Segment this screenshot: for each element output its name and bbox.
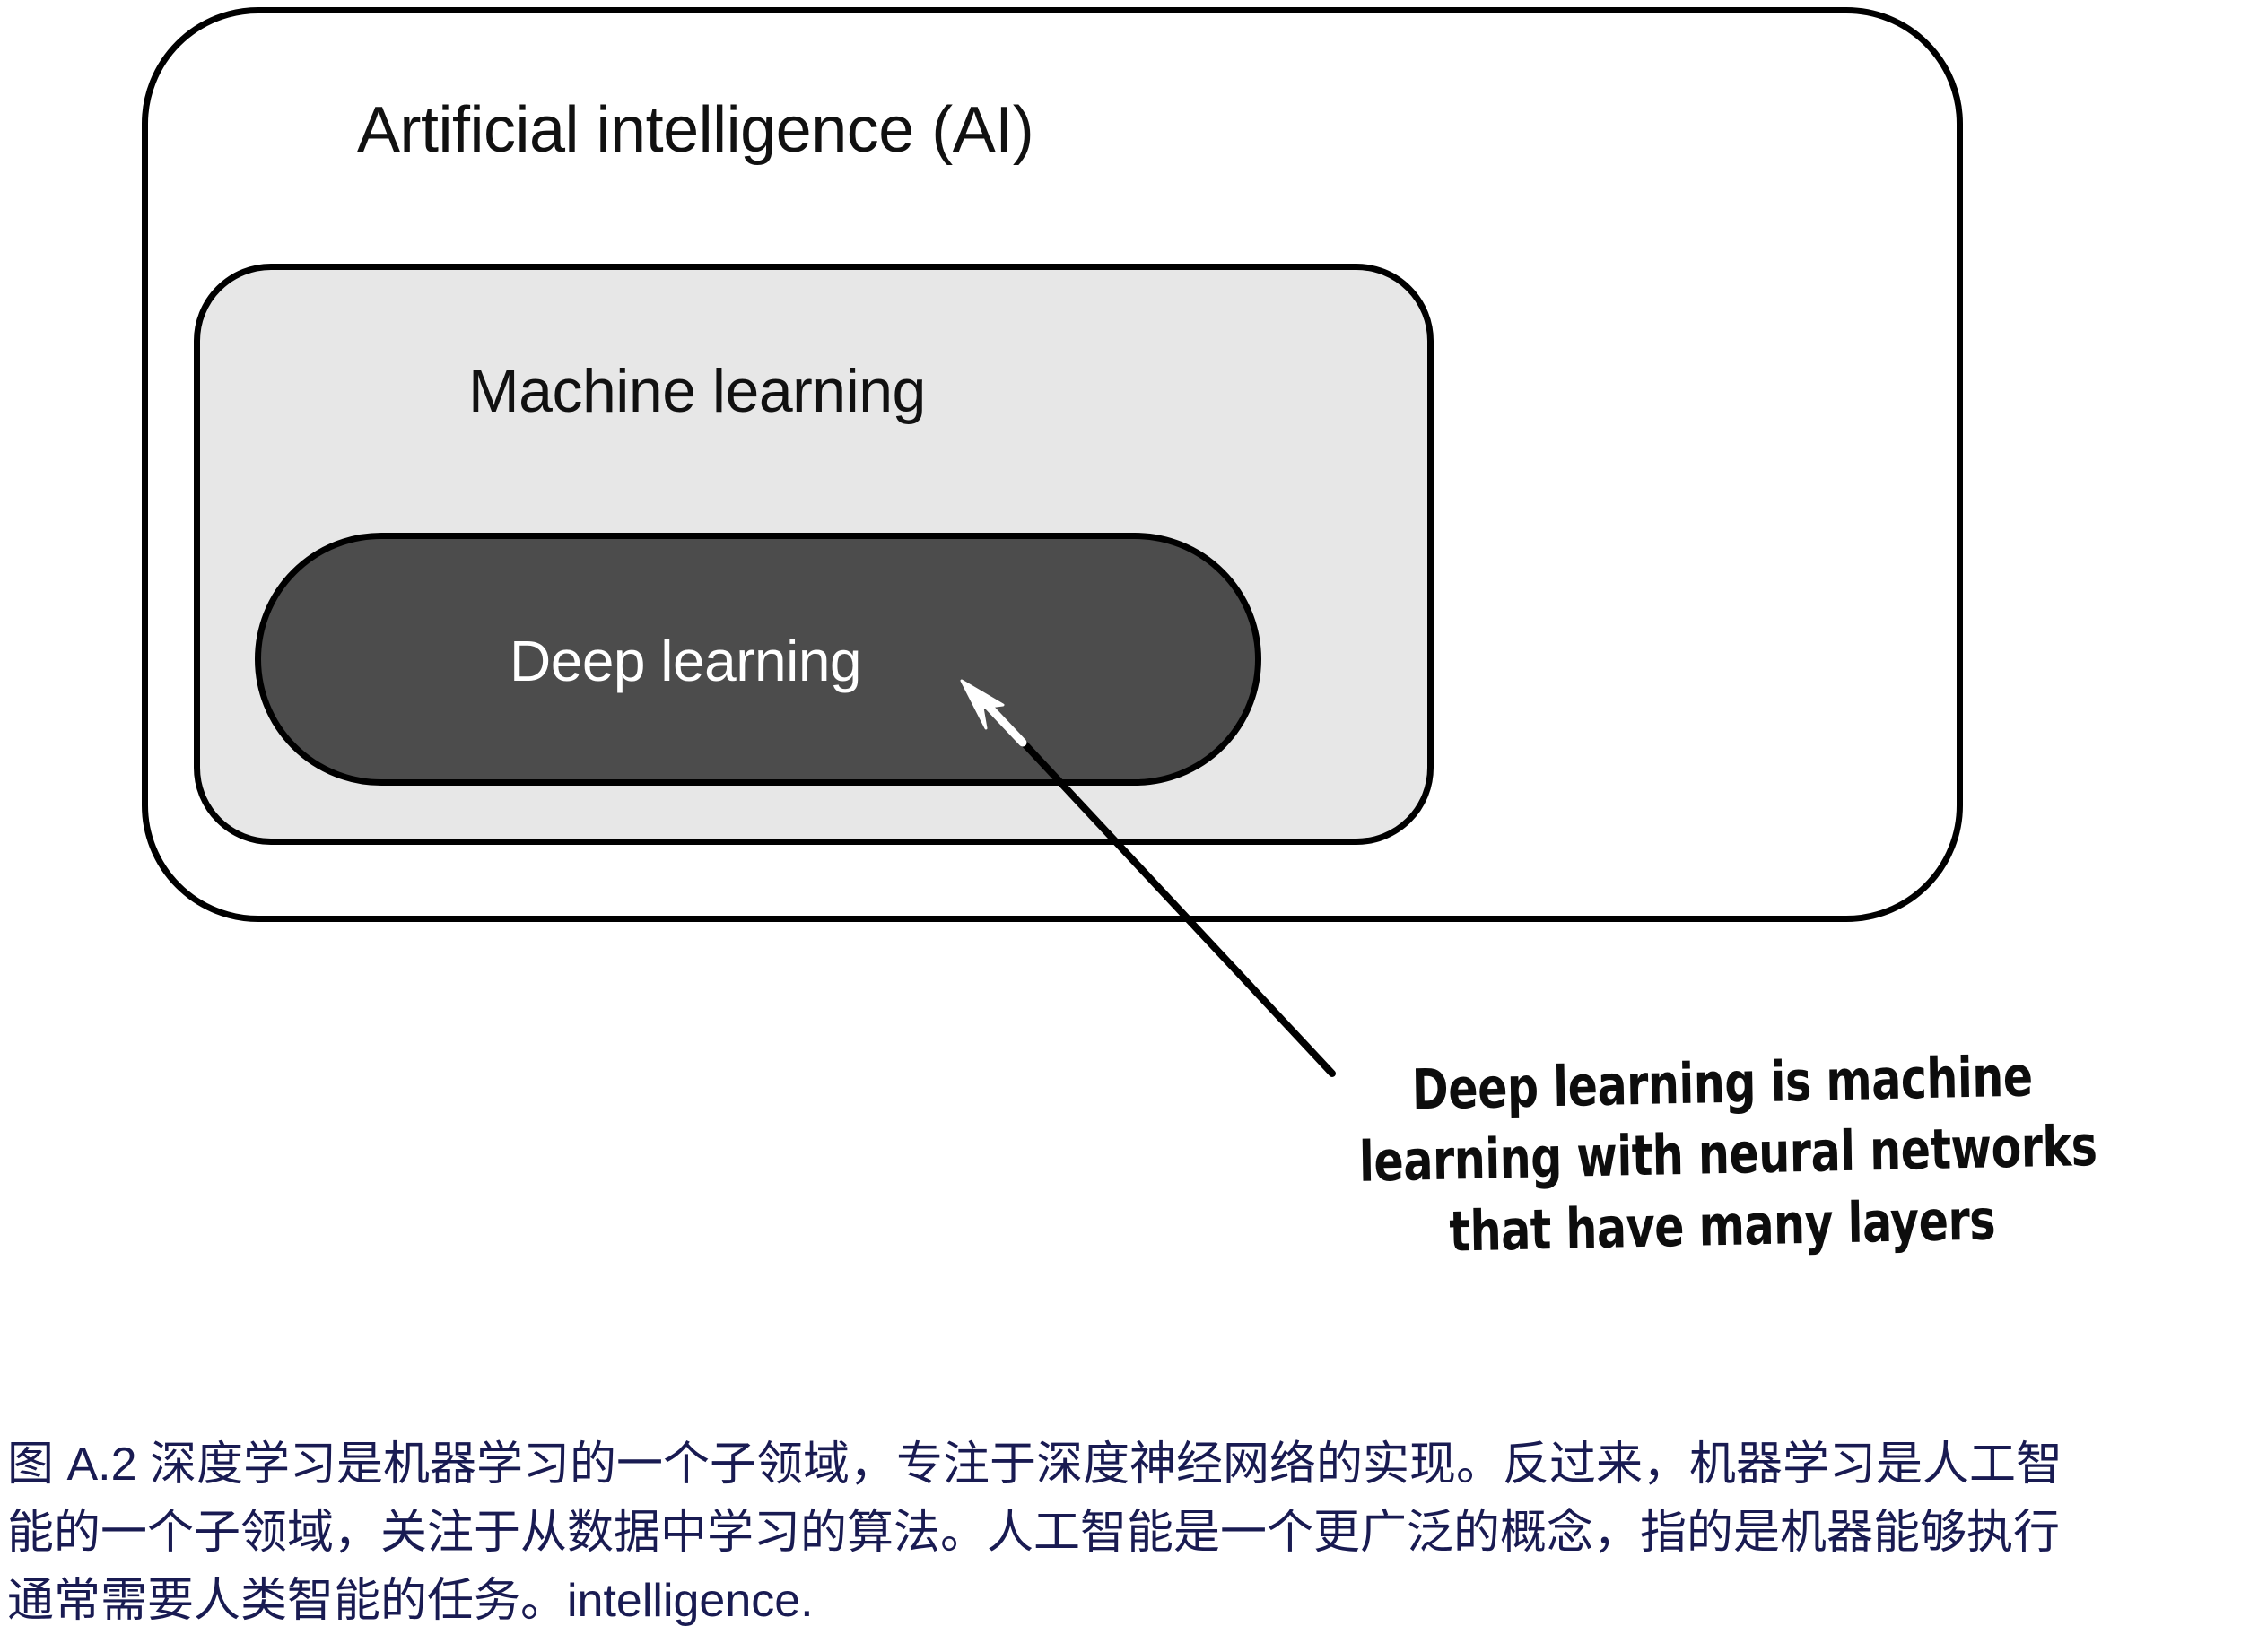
figure-caption: 图 A.2 深度学习是机器学习的一个子领域，专注于深度神经网络的实现。反过来，机…: [7, 1431, 2237, 1636]
machine-learning-box-label: Machine learning: [468, 356, 926, 426]
annotation-text: Deep learning is machine learning with n…: [1359, 1048, 2086, 1261]
ai-box-label: Artificial intelligence (AI): [357, 93, 1033, 167]
caption-line-1: 图 A.2 深度学习是机器学习的一个子领域，专注于深度神经网络的实现。反过来，机…: [7, 1431, 2237, 1500]
concept-diagram: Artificial intelligence (AI) Machine lea…: [0, 0, 2241, 1399]
caption-line-3: 通常需要人类智能的任务。intelligence.: [7, 1568, 2237, 1636]
deep-learning-box-label: Deep learning: [510, 628, 861, 694]
annotation-line-3: that have many layers: [1358, 1182, 2086, 1269]
caption-line-2: 能的一个子领域，关注于从数据中学习的算法。人工智能是一个更广泛的概念，指的是机器…: [7, 1500, 2237, 1568]
